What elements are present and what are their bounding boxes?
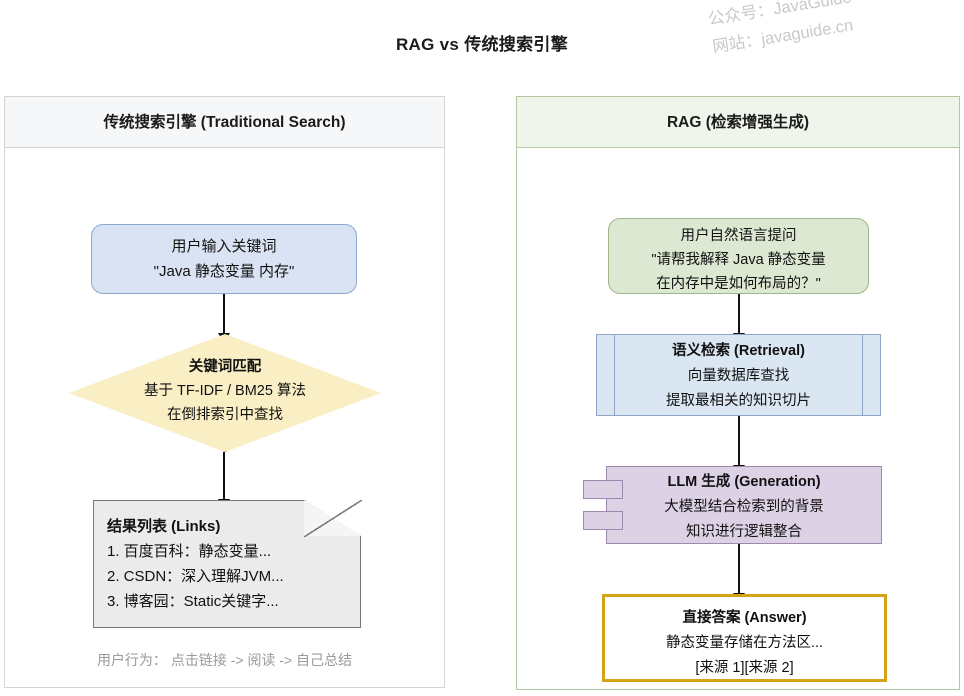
node-result-list: 结果列表 (Links) 1. 百度百科：静态变量... 2. CSDN：深入理…	[93, 500, 361, 628]
arrow-retrieval-to-generation	[738, 416, 740, 466]
node-direct-answer-line1: 静态变量存储在方法区...	[605, 631, 884, 656]
result-item-3: 3. 博客园：Static关键字...	[107, 589, 361, 614]
node-result-list-text: 结果列表 (Links) 1. 百度百科：静态变量... 2. CSDN：深入理…	[93, 500, 361, 614]
user-behavior-line1: 用户行为：	[97, 652, 167, 668]
node-llm-generation-line1: 大模型结合检索到的背景	[607, 495, 881, 520]
rag-panel-body: 用户自然语言提问 "请帮我解释 Java 静态变量 在内存中是如何布局的？" 语…	[517, 148, 959, 688]
node-semantic-retrieval: 语义检索 (Retrieval) 向量数据库查找 提取最相关的知识切片	[596, 334, 881, 416]
node-user-question-line2: "请帮我解释 Java 静态变量	[609, 248, 868, 272]
process-bar-left	[614, 335, 615, 415]
node-keyword-match-title: 关键词匹配	[69, 355, 381, 379]
node-llm-generation-title: LLM 生成 (Generation)	[607, 470, 881, 495]
traditional-search-panel: 传统搜索引擎 (Traditional Search) 用户输入关键词 "Jav…	[4, 96, 445, 688]
node-keyword-match-line1: 基于 TF-IDF / BM25 算法	[69, 379, 381, 403]
node-semantic-retrieval-line1: 向量数据库查找	[597, 364, 880, 389]
node-semantic-retrieval-title: 语义检索 (Retrieval)	[597, 339, 880, 364]
arrow-match-to-results	[223, 452, 225, 500]
node-direct-answer-line2: [来源 1][来源 2]	[605, 656, 884, 681]
node-user-question-line3: 在内存中是如何布局的？"	[609, 272, 868, 296]
node-keyword-match-text: 关键词匹配 基于 TF-IDF / BM25 算法 在倒排索引中查找	[69, 334, 381, 427]
user-behavior-note: 用户行为： 点击链接 -> 阅读 -> 自己总结	[5, 648, 444, 673]
arrow-generation-to-answer	[738, 544, 740, 594]
node-llm-generation-line2: 知识进行逻辑整合	[607, 520, 881, 545]
node-direct-answer: 直接答案 (Answer) 静态变量存储在方法区... [来源 1][来源 2]	[602, 594, 887, 682]
rag-panel: RAG (检索增强生成) 用户自然语言提问 "请帮我解释 Java 静态变量 在…	[516, 96, 960, 690]
node-keyword-match: 关键词匹配 基于 TF-IDF / BM25 算法 在倒排索引中查找	[69, 334, 381, 452]
node-keyword-match-line2: 在倒排索引中查找	[69, 403, 381, 427]
result-item-2: 2. CSDN：深入理解JVM...	[107, 564, 361, 589]
node-semantic-retrieval-line2: 提取最相关的知识切片	[597, 389, 880, 414]
node-user-query: 用户输入关键词 "Java 静态变量 内存"	[91, 224, 357, 294]
rag-panel-header: RAG (检索增强生成)	[517, 97, 959, 148]
traditional-search-panel-body: 用户输入关键词 "Java 静态变量 内存" 关键词匹配 基于 TF-IDF /…	[5, 148, 444, 688]
node-llm-generation: LLM 生成 (Generation) 大模型结合检索到的背景 知识进行逻辑整合	[606, 466, 882, 544]
traditional-search-panel-header: 传统搜索引擎 (Traditional Search)	[5, 97, 444, 148]
node-user-question-line1: 用户自然语言提问	[609, 224, 868, 248]
arrow-query-to-match	[223, 294, 225, 334]
result-item-1: 1. 百度百科：静态变量...	[107, 539, 361, 564]
node-result-list-title: 结果列表 (Links)	[107, 514, 361, 539]
node-user-question: 用户自然语言提问 "请帮我解释 Java 静态变量 在内存中是如何布局的？"	[608, 218, 869, 294]
component-tab-bottom-icon	[583, 511, 623, 530]
user-behavior-line2: 点击链接 -> 阅读 -> 自己总结	[171, 652, 352, 668]
node-direct-answer-title: 直接答案 (Answer)	[605, 606, 884, 631]
component-tab-top-icon	[583, 480, 623, 499]
node-user-query-line1: 用户输入关键词	[92, 234, 356, 259]
arrow-question-to-retrieval	[738, 294, 740, 334]
process-bar-right	[862, 335, 863, 415]
node-user-query-line2: "Java 静态变量 内存"	[92, 259, 356, 284]
